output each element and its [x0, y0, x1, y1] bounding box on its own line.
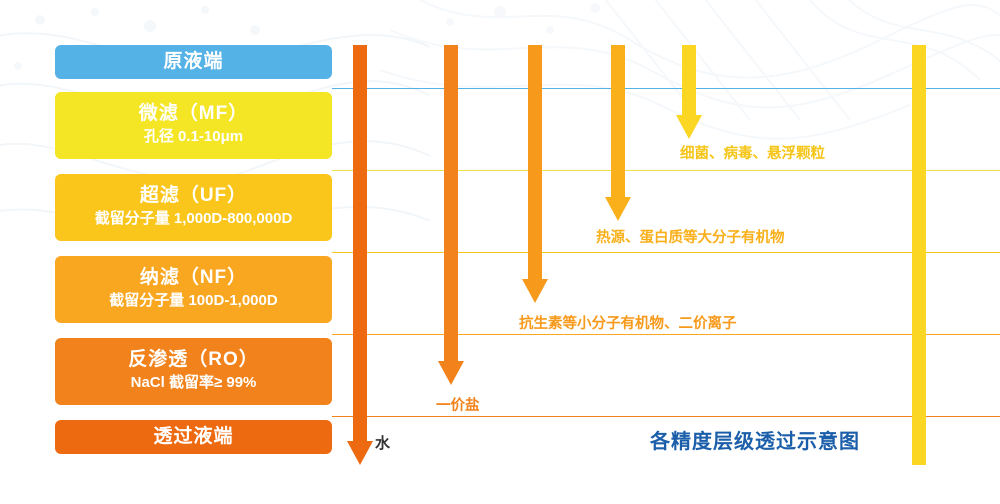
separator-line-1	[332, 170, 1000, 171]
annotation-macromolecule: 热源、蛋白质等大分子有机物	[596, 226, 785, 247]
level-bar-mf[interactable]: 微滤（MF） 孔径 0.1-10μm	[55, 92, 332, 159]
level-label-feed: 原液端	[163, 50, 223, 74]
level-bar-permeate[interactable]: 透过液端	[55, 420, 332, 454]
level-sub-mf: 孔径 0.1-10μm	[144, 126, 243, 149]
annotation-bacteria: 细菌、病毒、悬浮颗粒	[680, 142, 825, 163]
retentate-column	[912, 45, 926, 465]
small-molecule-arrow	[522, 45, 548, 303]
separator-line-2	[332, 252, 1000, 253]
monovalent-salt-arrow	[438, 45, 464, 385]
macro-molecule-arrow	[605, 45, 631, 221]
level-label-nf: 纳滤（NF）	[140, 266, 247, 290]
annotation-monovalent-salt: 一价盐	[436, 394, 480, 415]
annotation-water: 水	[375, 432, 390, 453]
separator-line-0	[332, 88, 1000, 89]
level-bar-nf[interactable]: 纳滤（NF） 截留分子量 100D-1,000D	[55, 256, 332, 323]
diagram-title: 各精度层级透过示意图	[650, 425, 860, 454]
water-arrow	[347, 45, 373, 465]
level-bar-ro[interactable]: 反渗透（RO） NaCl 截留率≥ 99%	[55, 338, 332, 405]
level-bar-feed[interactable]: 原液端	[55, 45, 332, 79]
bacteria-arrow	[676, 45, 702, 139]
separator-line-3	[332, 334, 1000, 335]
annotation-small-molecule: 抗生素等小分子有机物、二价离子	[519, 312, 737, 333]
level-label-ro: 反渗透（RO）	[128, 348, 259, 372]
separator-line-4	[332, 416, 1000, 417]
level-label-uf: 超滤（UF）	[140, 184, 247, 208]
level-label-mf: 微滤（MF）	[139, 102, 248, 126]
diagram-canvas: 原液端 微滤（MF） 孔径 0.1-10μm 超滤（UF） 截留分子量 1,00…	[0, 0, 1000, 504]
level-label-permeate: 透过液端	[153, 425, 233, 449]
level-sub-ro: NaCl 截留率≥ 99%	[131, 372, 257, 395]
level-bar-uf[interactable]: 超滤（UF） 截留分子量 1,000D-800,000D	[55, 174, 332, 241]
level-sub-uf: 截留分子量 1,000D-800,000D	[95, 208, 293, 231]
level-sub-nf: 截留分子量 100D-1,000D	[109, 290, 277, 313]
